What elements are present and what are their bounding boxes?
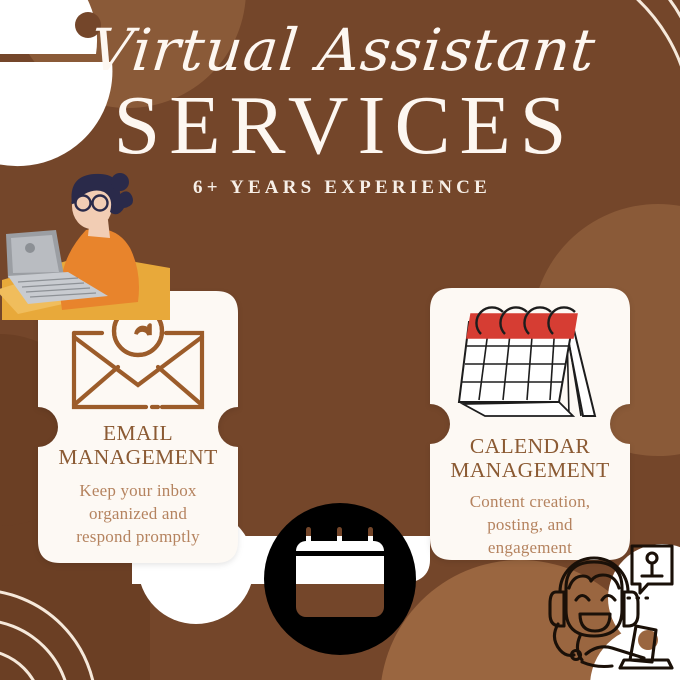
laptop-logo	[25, 243, 35, 253]
card-title-line2: MANAGEMENT	[450, 458, 609, 482]
card-desc-line1: Keep your inbox	[79, 481, 196, 500]
envelope-at-icon	[62, 307, 214, 415]
card-desc-line3: respond promptly	[76, 527, 200, 546]
page-title: SERVICES	[0, 87, 680, 164]
card-title: EMAIL MANAGEMENT	[58, 421, 217, 469]
service-card-calendar-management[interactable]: CALENDAR MANAGEMENT Content creation, po…	[430, 288, 630, 560]
script-title: Virtual Assistant	[0, 20, 680, 81]
card-title-line1: EMAIL	[103, 421, 173, 445]
badge-calendar-divider	[296, 551, 384, 556]
card-desc-line1: Content creation,	[470, 492, 590, 511]
badge-circle	[264, 503, 416, 655]
card-desc-line2: organized and	[89, 504, 187, 523]
calendar-badge-icon[interactable]	[258, 497, 422, 661]
poster-canvas: Virtual Assistant SERVICES 6+ YEARS EXPE…	[0, 0, 680, 680]
card-title-line2: MANAGEMENT	[58, 445, 217, 469]
card-description: Keep your inbox organized and respond pr…	[76, 480, 200, 549]
card-title: CALENDAR MANAGEMENT	[450, 434, 609, 482]
service-card-email-management[interactable]: EMAIL MANAGEMENT Keep your inbox organiz…	[38, 291, 238, 563]
card-content: EMAIL MANAGEMENT Keep your inbox organiz…	[38, 291, 238, 563]
laptop-screen-inner	[11, 235, 59, 273]
hair-bun	[111, 173, 129, 191]
card-title-line1: CALENDAR	[470, 434, 590, 458]
support-agent-illustration	[536, 530, 678, 678]
woman-at-laptop-illustration	[0, 172, 170, 320]
desk-calendar-icon	[455, 304, 605, 428]
card-content: CALENDAR MANAGEMENT Content creation, po…	[430, 288, 630, 560]
